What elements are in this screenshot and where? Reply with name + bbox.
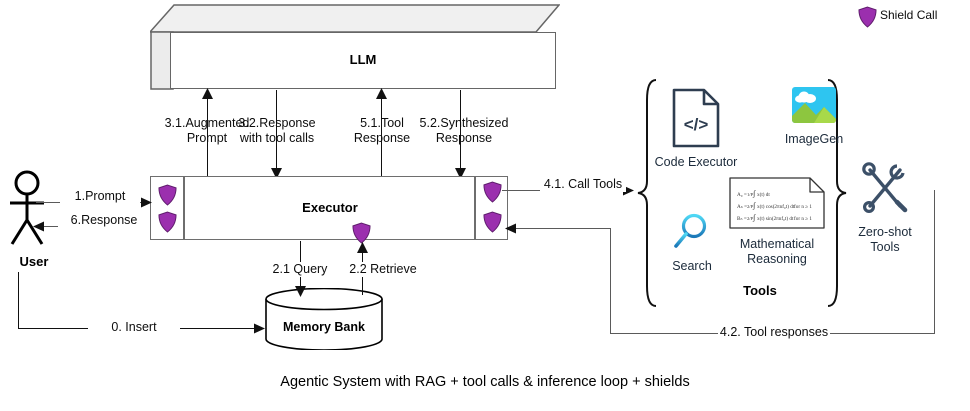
tool-code-executor[interactable]: </> Code Executor: [646, 88, 746, 170]
svg-text:A₀ =: A₀ =: [737, 192, 747, 198]
tool-code-executor-label: Code Executor: [646, 155, 746, 170]
image-picture-icon: [790, 85, 838, 125]
edge-tool-responses-right-vertical: [934, 190, 935, 334]
edge-tool-responses-arrowhead: [504, 223, 517, 234]
llm-label: LLM: [170, 52, 556, 67]
tools-group-label: Tools: [700, 283, 820, 298]
tool-imagegen[interactable]: ImageGen: [762, 85, 866, 147]
shield-icon: [483, 211, 502, 233]
edge-insert-label: 0. Insert: [88, 320, 180, 335]
svg-text:Bₙ =: Bₙ =: [737, 216, 747, 222]
legend-label: Shield Call: [880, 8, 937, 23]
edge-query-label: 2.1 Query: [262, 262, 338, 277]
edge-tool-responses-label: 4.2. Tool responses: [718, 325, 830, 340]
memory-bank-node: [265, 288, 383, 350]
shield-icon: [158, 211, 177, 233]
edge-tool-responses-into-executor: [512, 228, 611, 229]
shield-icon: [158, 184, 177, 206]
edge-response-arrowhead: [32, 221, 45, 232]
tool-imagegen-label: ImageGen: [762, 132, 866, 147]
shield-icon: [858, 6, 877, 28]
svg-text:x(t) cos(2πnf₀t) dt: x(t) cos(2πnf₀t) dt: [757, 203, 795, 210]
tool-zero-shot-label: Zero-shot Tools: [836, 225, 934, 255]
svg-text:for n ≥ 1: for n ≥ 1: [794, 203, 812, 210]
diagram-caption: Agentic System with RAG + tool calls & i…: [0, 374, 970, 390]
wrench-screwdriver-icon: [856, 162, 914, 218]
memory-bank-label: Memory Bank: [265, 320, 383, 334]
tool-zero-shot[interactable]: Zero-shot Tools: [836, 162, 934, 255]
executor-label: Executor: [190, 200, 470, 215]
user-stick-figure: [6, 170, 62, 250]
edge-prompt-label: 1.Prompt: [60, 189, 140, 204]
tool-mathematical-reasoning-label: Mathematical Reasoning: [718, 237, 836, 267]
edge-augmented-prompt-arrowhead: [201, 88, 214, 100]
magnifier-icon: [672, 212, 712, 252]
edge-call-tools-label: 4.1. Call Tools: [540, 177, 626, 192]
edge-query-arrowhead: [294, 285, 307, 297]
llm-node: LLM: [150, 4, 560, 90]
edge-response-tool-calls-label: 3.2.Response with tool calls: [215, 116, 339, 146]
svg-text:x(t) sin(2πnf₀t) dt: x(t) sin(2πnf₀t) dt: [757, 215, 794, 222]
edge-synthesized-response-label: 5.2.Synthesized Response: [409, 116, 519, 146]
llm-top-face: [150, 4, 560, 34]
svg-text:for n ≥ 1: for n ≥ 1: [794, 215, 812, 222]
edge-tool-response-arrowhead: [375, 88, 388, 100]
user-label: User: [4, 254, 64, 269]
executor-right-divider: [474, 176, 476, 240]
edge-retrieve-label: 2.2 Retrieve: [340, 262, 426, 277]
tool-search-label: Search: [654, 259, 730, 274]
code-document-icon: </>: [670, 88, 722, 148]
edge-response-label: 6.Response: [58, 213, 150, 228]
edge-retrieve-arrowhead: [356, 242, 369, 254]
executor-left-divider: [183, 176, 185, 240]
shield-icon: [352, 222, 371, 244]
svg-text:</>: </>: [684, 115, 709, 134]
tool-search[interactable]: Search: [654, 212, 730, 274]
edge-prompt-arrowhead: [140, 197, 153, 208]
tool-mathematical-reasoning[interactable]: A₀ = 1/P ∫x(t) dt Aₙ = 2/P ∫x(t) cos(2πn…: [718, 176, 836, 267]
equations-document-icon: A₀ = 1/P ∫x(t) dt Aₙ = 2/P ∫x(t) cos(2πn…: [728, 176, 826, 230]
shield-icon: [483, 181, 502, 203]
svg-text:Aₙ =: Aₙ =: [737, 204, 747, 210]
edge-insert-vertical: [18, 272, 19, 328]
edge-tool-responses-left-vertical: [610, 228, 611, 334]
svg-text:x(t) dt: x(t) dt: [757, 191, 770, 198]
